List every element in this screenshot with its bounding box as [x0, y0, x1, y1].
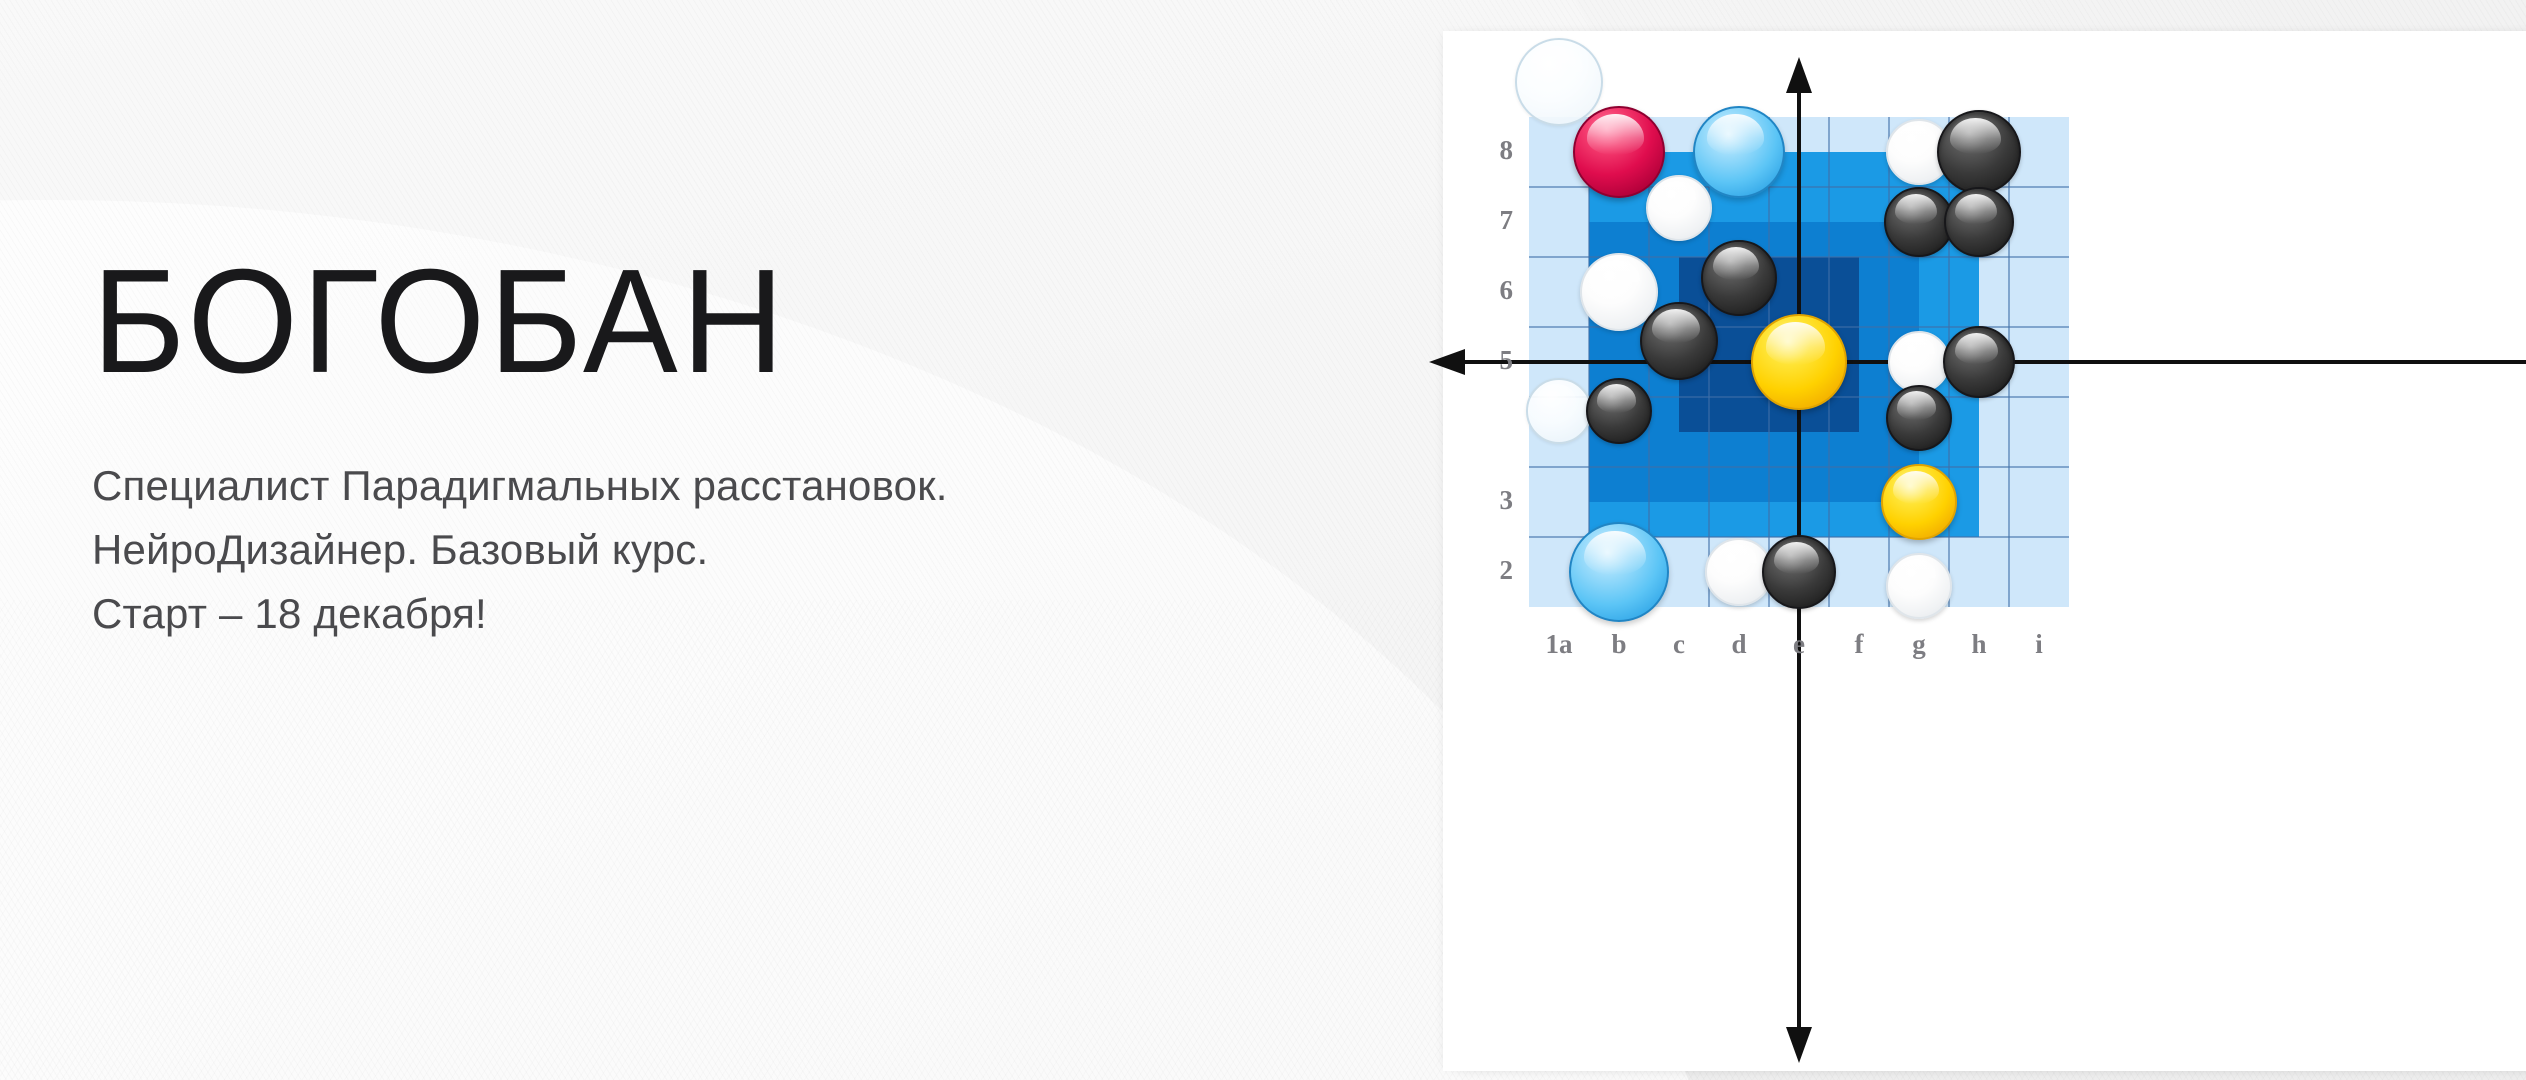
subtitle-block: Специалист Парадигмальных расстановок. Н… — [92, 454, 1272, 645]
board-column-label-c: c — [1649, 629, 1709, 660]
subtitle-line-3: Старт – 18 декабря! — [92, 582, 1272, 646]
stone-highlight — [1592, 260, 1639, 294]
stone-red-b8[interactable] — [1573, 106, 1665, 198]
stone-black-h7[interactable] — [1944, 187, 2014, 257]
stone-highlight — [1897, 559, 1937, 588]
stone-highlight — [1897, 125, 1937, 154]
board-row-label-5: 5 — [1473, 345, 1513, 376]
stone-yellow-g3[interactable] — [1881, 464, 1957, 540]
axis-arrow-left — [1429, 349, 1465, 375]
stone-highlight — [1898, 337, 1935, 364]
board-row-label-2: 2 — [1473, 555, 1513, 586]
stone-highlight — [1893, 471, 1939, 504]
stone-highlight — [1707, 114, 1763, 154]
stone-highlight — [1897, 391, 1937, 420]
stone-highlight — [1652, 309, 1699, 343]
stone-cyan-d8[interactable] — [1693, 106, 1785, 198]
stone-highlight — [1955, 194, 1997, 224]
stone-highlight — [1597, 384, 1637, 413]
stone-highlight — [1529, 46, 1583, 85]
board-column-label-g: g — [1889, 629, 1949, 660]
board-column-label-1a: 1a — [1529, 629, 1589, 660]
stone-highlight — [1955, 333, 1999, 364]
board-column-label-b: b — [1589, 629, 1649, 660]
stone-black-c5[interactable] — [1640, 302, 1718, 380]
stone-black-h8[interactable] — [1937, 110, 2021, 194]
axis-arrow-up — [1786, 57, 1812, 93]
board-row-label-6: 6 — [1473, 275, 1513, 306]
subtitle-line-2: НейроДизайнер. Базовый курс. — [92, 518, 1272, 582]
stone-black-d6[interactable] — [1701, 240, 1777, 316]
subtitle-line-1: Специалист Парадигмальных расстановок. — [92, 454, 1272, 518]
stone-ghost-a4[interactable] — [1526, 378, 1592, 444]
stone-highlight — [1713, 247, 1759, 280]
board-diagram: 8765321abcdefghi — [1443, 31, 2526, 1071]
stone-black-e2[interactable] — [1762, 535, 1836, 609]
stone-yellow-e5[interactable] — [1751, 314, 1847, 410]
board-column-label-e: e — [1769, 629, 1829, 660]
stone-highlight — [1716, 544, 1757, 573]
board-column-label-i: i — [2009, 629, 2069, 660]
stone-highlight — [1895, 194, 1937, 224]
stone-black-h5[interactable] — [1943, 326, 2015, 398]
stone-black-b4[interactable] — [1586, 378, 1652, 444]
stone-highlight — [1657, 181, 1697, 210]
stone-cyan-b2[interactable] — [1569, 522, 1669, 622]
stone-highlight — [1587, 114, 1643, 154]
stone-white-g2[interactable] — [1886, 553, 1952, 619]
board-row-label-8: 8 — [1473, 135, 1513, 166]
stone-white-g5[interactable] — [1888, 331, 1950, 393]
stone-black-g4[interactable] — [1886, 385, 1952, 451]
stone-highlight — [1950, 118, 2001, 155]
board-column-label-h: h — [1949, 629, 2009, 660]
headline-block: БОГОБАН Специалист Парадигмальных расста… — [92, 248, 1272, 645]
board-column-label-f: f — [1829, 629, 1889, 660]
stone-highlight — [1584, 531, 1645, 575]
board-card-panel: 8765321abcdefghi — [1443, 31, 2526, 1071]
page-title: БОГОБАН — [92, 248, 1225, 396]
stone-highlight — [1766, 322, 1825, 364]
stone-white-c7[interactable] — [1646, 175, 1712, 241]
board-row-label-3: 3 — [1473, 485, 1513, 516]
stone-ghost-a9[interactable] — [1515, 38, 1603, 126]
stone-highlight — [1537, 384, 1577, 413]
board-column-label-d: d — [1709, 629, 1769, 660]
stone-highlight — [1774, 542, 1819, 574]
board-row-label-7: 7 — [1473, 205, 1513, 236]
axis-arrow-down — [1786, 1027, 1812, 1063]
